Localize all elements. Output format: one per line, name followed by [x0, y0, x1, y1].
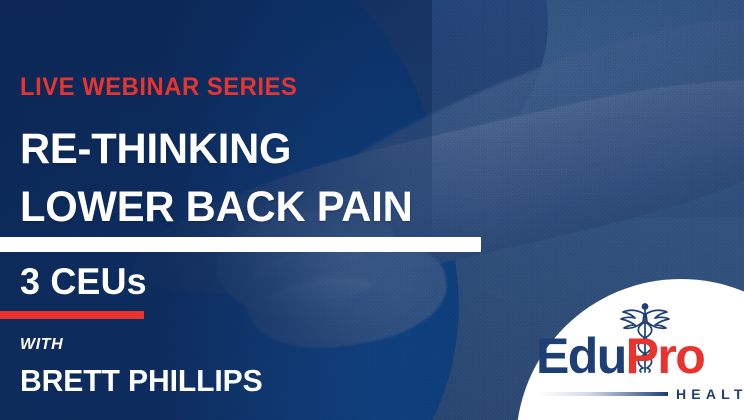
- logo-gradient-rule: [538, 392, 668, 396]
- webinar-promo-banner: LIVE WEBINAR SERIES RE-THINKING LOWER BA…: [0, 0, 744, 420]
- logo-wordmark: EduPro: [536, 328, 744, 384]
- logo-brand-edu: Edu: [536, 328, 626, 384]
- ceu-credits-label: 3 CEUs: [20, 263, 147, 300]
- headline-line-2: LOWER BACK PAIN: [20, 186, 413, 229]
- series-kicker: LIVE WEBINAR SERIES: [20, 75, 297, 100]
- edupro-health-logo: EduPro HEALTH: [536, 300, 744, 404]
- logo-brand-pro: Pro: [626, 328, 705, 384]
- speaker-name: BRETT PHILLIPS: [20, 365, 263, 396]
- headline-line-1: RE-THINKING: [20, 128, 291, 171]
- with-label: WITH: [20, 337, 63, 353]
- logo-tagline: HEALTH: [676, 387, 744, 401]
- white-divider-bar: [0, 237, 481, 252]
- logo-tagline-row: HEALTH: [538, 386, 744, 402]
- red-accent-rule: [0, 311, 144, 319]
